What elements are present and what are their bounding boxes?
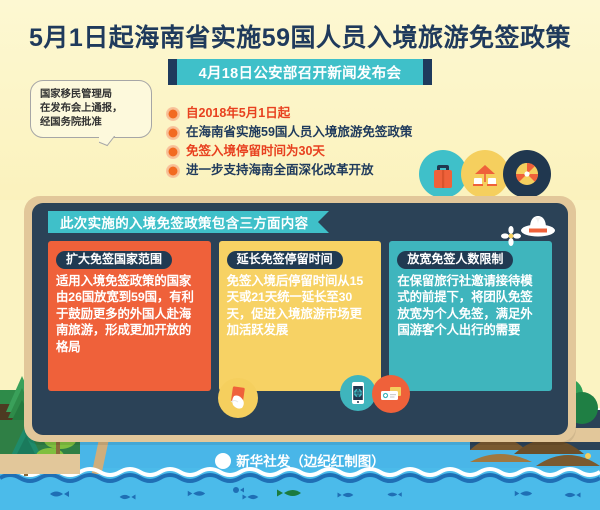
card-chip: 扩大免签国家范围	[56, 251, 172, 269]
card-chip: 放宽免签人数限制	[397, 251, 513, 269]
board-title: 此次实施的入境免签政策包含三方面内容	[48, 211, 318, 233]
bullet-text: 免签入境停留时间为30天	[186, 142, 325, 161]
fish-icon	[48, 488, 72, 500]
card-relax-headcount: 放宽免签人数限制 在保留旅行社邀请接待模式的前提下，将团队免签放宽为个人免签，满…	[389, 241, 552, 391]
list-item: 免签入境停留时间为30天	[166, 142, 412, 161]
page-title: 5月1日起海南省实施59国人员入境旅游免签政策	[0, 18, 600, 54]
bullet-dot-icon	[166, 164, 180, 178]
fish-icon	[118, 492, 138, 502]
bullet-text: 进一步支持海南全面深化改革开放	[186, 161, 374, 180]
card-extend-stay: 延长免签停留时间 免签入境后停留时间从15天或21天统一延长至30天，促进入境旅…	[219, 241, 382, 391]
fish-icon	[185, 488, 207, 499]
passport-hand-icon	[218, 378, 258, 418]
speech-bubble: 国家移民管理局 在发布会上通报， 经国务院批准	[30, 80, 152, 138]
fish-icon	[562, 490, 584, 500]
xinhua-logo-icon	[215, 453, 231, 469]
list-item: 自2018年5月1日起	[166, 104, 412, 123]
suitcase-icon	[419, 150, 467, 198]
fish-icon	[512, 488, 534, 499]
bubble-line-2: 在发布会上通报，	[40, 102, 143, 116]
bullet-text: 在海南省实施59国人员入境旅游免签政策	[186, 123, 412, 142]
bubble-tail	[99, 136, 117, 150]
beach-chair-icon	[461, 150, 509, 198]
bullet-dot-icon	[166, 126, 180, 140]
wave-line-2	[0, 472, 600, 484]
subtitle-banner: 4月18日公安部召开新闻发布会	[168, 59, 432, 85]
fish-icon	[232, 486, 246, 494]
list-item: 在海南省实施59国人员入境旅游免签政策	[166, 123, 412, 142]
bubble-line-3: 经国务院批准	[40, 116, 143, 130]
parasol-icon	[503, 150, 551, 198]
banner-cap-right	[423, 59, 432, 85]
bullet-list: 自2018年5月1日起 在海南省实施59国人员入境旅游免签政策 免签入境停留时间…	[166, 104, 412, 180]
boarding-ticket-icon	[372, 375, 410, 413]
card-body: 在保留旅行社邀请接待模式的前提下，将团队免签放宽为个人免签，满足外国游客个人出行…	[397, 273, 544, 339]
flower-icon	[501, 226, 521, 246]
bubble-line-1: 国家移民管理局	[40, 88, 143, 102]
card-chip: 延长免签停留时间	[227, 251, 343, 269]
fish-icon	[386, 490, 404, 499]
board-title-notch	[318, 211, 329, 233]
footer-credit: 新华社发（边纪红制图）	[0, 450, 600, 470]
subtitle-text: 4月18日公安部召开新闻发布会	[177, 59, 423, 85]
mobile-globe-icon	[340, 375, 376, 411]
card-expand-countries: 扩大免签国家范围 适用入境免签政策的国家由26国放宽到59国，有利于鼓励更多的外…	[48, 241, 211, 391]
card-body: 适用入境免签政策的国家由26国放宽到59国，有利于鼓励更多的外国人赴海南旅游，形…	[56, 273, 203, 356]
bullet-dot-icon	[166, 145, 180, 159]
bullet-text: 自2018年5月1日起	[186, 104, 290, 123]
fish-icon	[275, 487, 305, 499]
footer-text: 新华社发（边纪红制图）	[236, 454, 385, 469]
sun-hat-icon	[516, 214, 560, 240]
bullet-dot-icon	[166, 107, 180, 121]
list-item: 进一步支持海南全面深化改革开放	[166, 161, 412, 180]
banner-cap-left	[168, 59, 177, 85]
board-title-text: 此次实施的入境免签政策包含三方面内容	[60, 212, 308, 232]
card-body: 免签入境后停留时间从15天或21天统一延长至30天，促进入境旅游市场更加活跃发展	[227, 273, 374, 339]
infographic-root: 5月1日起海南省实施59国人员入境旅游免签政策 4月18日公安部召开新闻发布会 …	[0, 0, 600, 510]
card-group: 扩大免签国家范围 适用入境免签政策的国家由26国放宽到59国，有利于鼓励更多的外…	[48, 241, 552, 391]
fish-icon	[335, 490, 355, 500]
